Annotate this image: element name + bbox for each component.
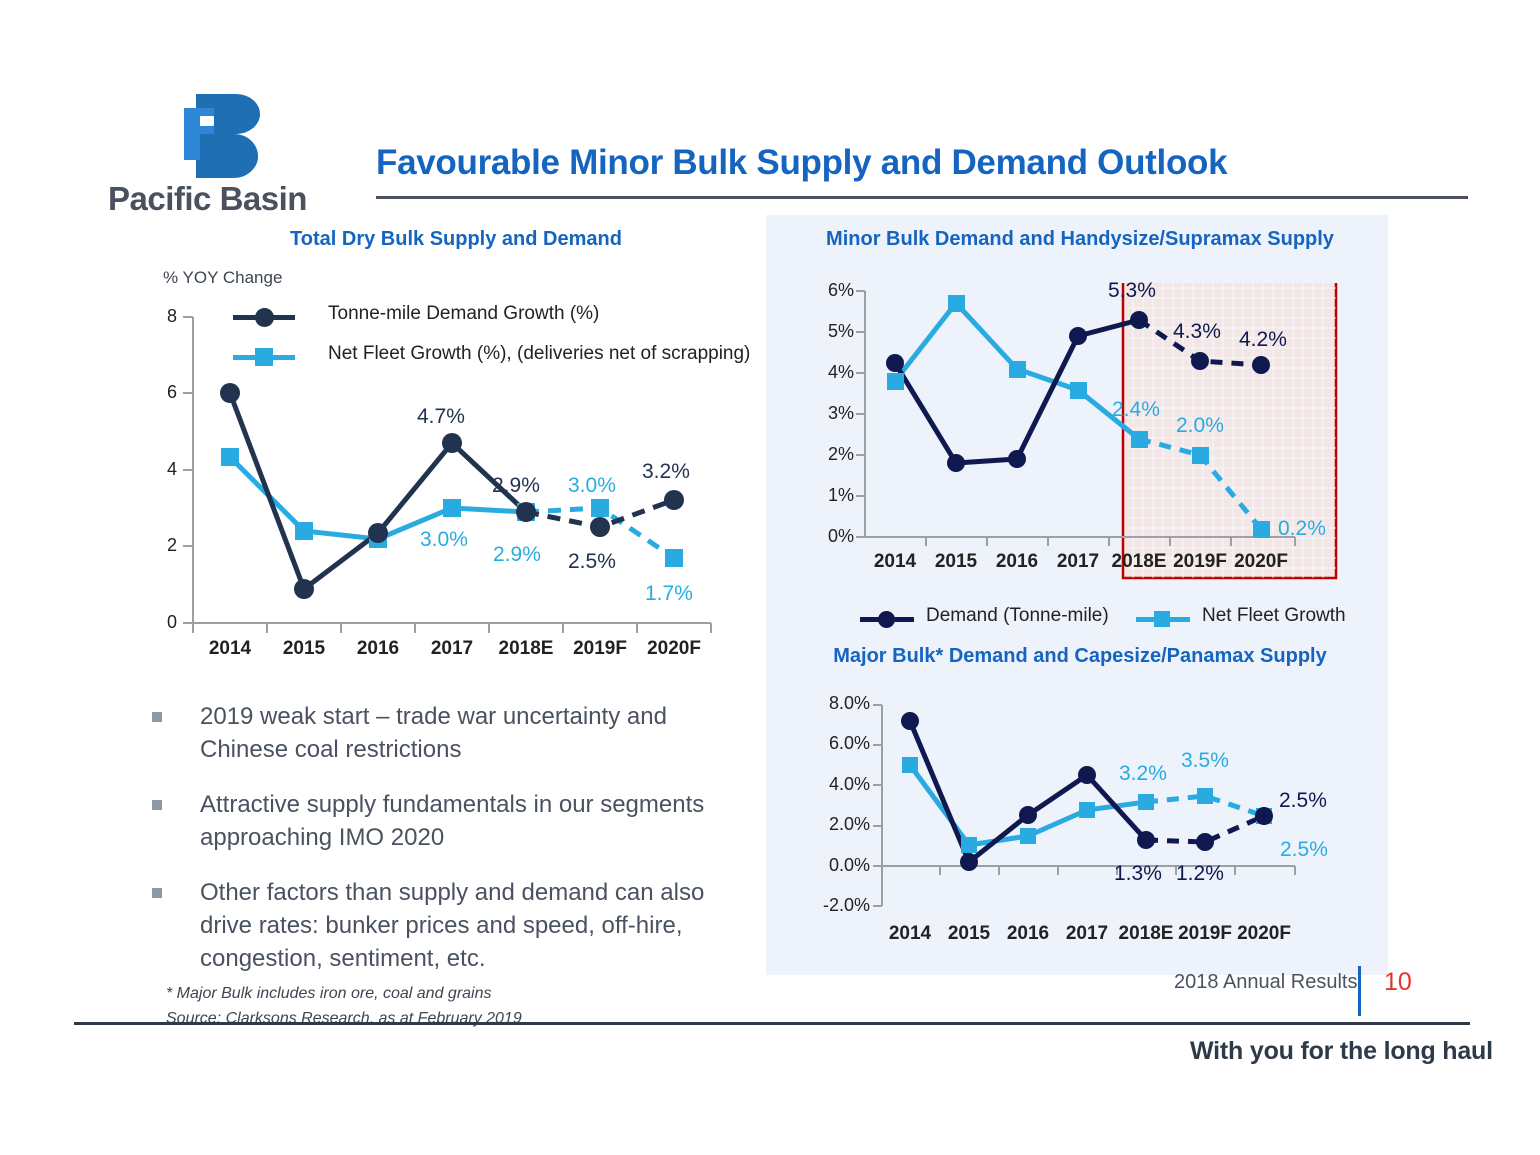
- rt-value-demand-2019f: 4.3%: [1173, 320, 1221, 344]
- circle-marker-icon: [878, 611, 895, 628]
- left-value-fleet-2017: 3.0%: [420, 528, 468, 552]
- left-xcat-2020f: 2020F: [630, 638, 718, 660]
- rt-value-demand-2020f: 4.2%: [1239, 328, 1287, 352]
- rb-value-fleet-2018e: 3.2%: [1119, 762, 1167, 786]
- footnote-line-2: Source: Clarksons Research, as at Februa…: [166, 1006, 522, 1031]
- rt-value-fleet-2020f: 0.2%: [1278, 517, 1326, 541]
- footer-divider: [74, 1022, 1470, 1025]
- left-legend-label-demand: Tonne-mile Demand Growth (%): [328, 303, 599, 325]
- left-value-fleet-2018e: 2.9%: [493, 543, 541, 567]
- rt-ytick-3: 3%: [806, 403, 854, 424]
- rb-xcat-2020f: 2020F: [1222, 923, 1306, 945]
- list-item: 2019 weak start – trade war uncertainty …: [148, 700, 748, 766]
- square-marker-icon: [255, 348, 273, 366]
- rt-ytick-0: 0%: [806, 526, 854, 547]
- left-value-demand-2019f: 2.5%: [568, 550, 616, 574]
- rt-ytick-5: 5%: [806, 321, 854, 342]
- rb-value-fleet-2020f: 2.5%: [1280, 838, 1328, 862]
- list-item: Other factors than supply and demand can…: [148, 876, 748, 975]
- rt-ytick-4: 4%: [806, 362, 854, 383]
- key-points-list: 2019 weak start – trade war uncertainty …: [148, 700, 748, 997]
- left-ytick-2: 2: [145, 535, 177, 556]
- rb-value-demand-2018e: 1.3%: [1114, 862, 1162, 886]
- rt-value-fleet-2018e: 2.4%: [1112, 398, 1160, 422]
- title-divider: [376, 196, 1468, 199]
- rt-ytick-1: 1%: [806, 485, 854, 506]
- left-ytick-4: 4: [145, 459, 177, 480]
- left-value-demand-2020f: 3.2%: [642, 460, 690, 484]
- major-bulk-chart: 8.0% 6.0% 4.0% 2.0% 0.0% -2.0% 2014 2015…: [840, 695, 1360, 945]
- rt-ytick-6: 6%: [806, 280, 854, 301]
- brand-wordmark: Pacific Basin: [108, 180, 348, 217]
- list-item-text: Attractive supply fundamentals in our se…: [200, 791, 704, 851]
- list-item: Attractive supply fundamentals in our se…: [148, 788, 748, 854]
- left-ytick-0: 0: [145, 612, 177, 633]
- rb-value-demand-2020f: 2.5%: [1279, 789, 1327, 813]
- rb-ytick-4: 4.0%: [798, 774, 870, 795]
- bullet-square-icon: [152, 800, 162, 810]
- page-title: Favourable Minor Bulk Supply and Demand …: [376, 143, 1386, 183]
- footnote-line-1: * Major Bulk includes iron ore, coal and…: [166, 981, 522, 1006]
- rb-ytick-neg2: -2.0%: [798, 895, 870, 916]
- left-legend-label-fleet: Net Fleet Growth (%), (deliveries net of…: [328, 343, 750, 365]
- rt-value-demand-2018e: 5.3%: [1108, 279, 1156, 303]
- rb-value-fleet-2019f: 3.5%: [1181, 749, 1229, 773]
- footer-vertical-divider: [1358, 966, 1361, 1016]
- left-value-demand-2018e: 2.9%: [492, 474, 540, 498]
- left-value-fleet-2020f: 1.7%: [645, 582, 693, 606]
- left-ytick-6: 6: [145, 382, 177, 403]
- rt-value-fleet-2019f: 2.0%: [1176, 414, 1224, 438]
- rb-ytick-8: 8.0%: [798, 693, 870, 714]
- left-value-fleet-2019f: 3.0%: [568, 474, 616, 498]
- circle-marker-icon: [255, 308, 274, 327]
- rb-ytick-6: 6.0%: [798, 733, 870, 754]
- pacific-basin-pb-monogram-icon: [178, 92, 278, 180]
- left-ytick-8: 8: [145, 306, 177, 327]
- right-charts-legend: Demand (Tonne-mile) Net Fleet Growth: [860, 608, 1340, 636]
- total-dry-bulk-chart: Tonne-mile Demand Growth (%) Net Fleet G…: [155, 300, 725, 645]
- page-number: 10: [1384, 968, 1412, 997]
- rb-ytick-0: 0.0%: [798, 855, 870, 876]
- mid-legend-label-demand: Demand (Tonne-mile): [926, 605, 1109, 627]
- brand-tagline: With you for the long haul: [1190, 1037, 1493, 1066]
- minor-bulk-chart-title: Minor Bulk Demand and Handysize/Supramax…: [790, 228, 1370, 251]
- left-chart-title: Total Dry Bulk Supply and Demand: [156, 228, 756, 251]
- rb-ytick-2: 2.0%: [798, 814, 870, 835]
- list-item-text: Other factors than supply and demand can…: [200, 879, 704, 972]
- brand-logo: Pacific Basin: [108, 92, 348, 217]
- major-bulk-chart-title: Major Bulk* Demand and Capesize/Panamax …: [790, 645, 1370, 668]
- major-bulk-chart-svg: [840, 695, 1360, 945]
- mid-legend-label-fleet: Net Fleet Growth: [1202, 605, 1346, 627]
- bullet-square-icon: [152, 888, 162, 898]
- bullet-square-icon: [152, 712, 162, 722]
- footer-deck-name: 2018 Annual Results: [1174, 971, 1357, 994]
- list-item-text: 2019 weak start – trade war uncertainty …: [200, 703, 667, 763]
- rt-xcat-2020f: 2020F: [1219, 551, 1303, 573]
- left-axis-note: % YOY Change: [163, 268, 282, 288]
- square-marker-icon: [1154, 611, 1170, 627]
- minor-bulk-chart: 6% 5% 4% 3% 2% 1% 0% 2014 2015 2016 2017…: [840, 283, 1360, 583]
- rt-ytick-2: 2%: [806, 444, 854, 465]
- left-value-demand-2017: 4.7%: [417, 405, 465, 429]
- rb-value-demand-2019f: 1.2%: [1176, 862, 1224, 886]
